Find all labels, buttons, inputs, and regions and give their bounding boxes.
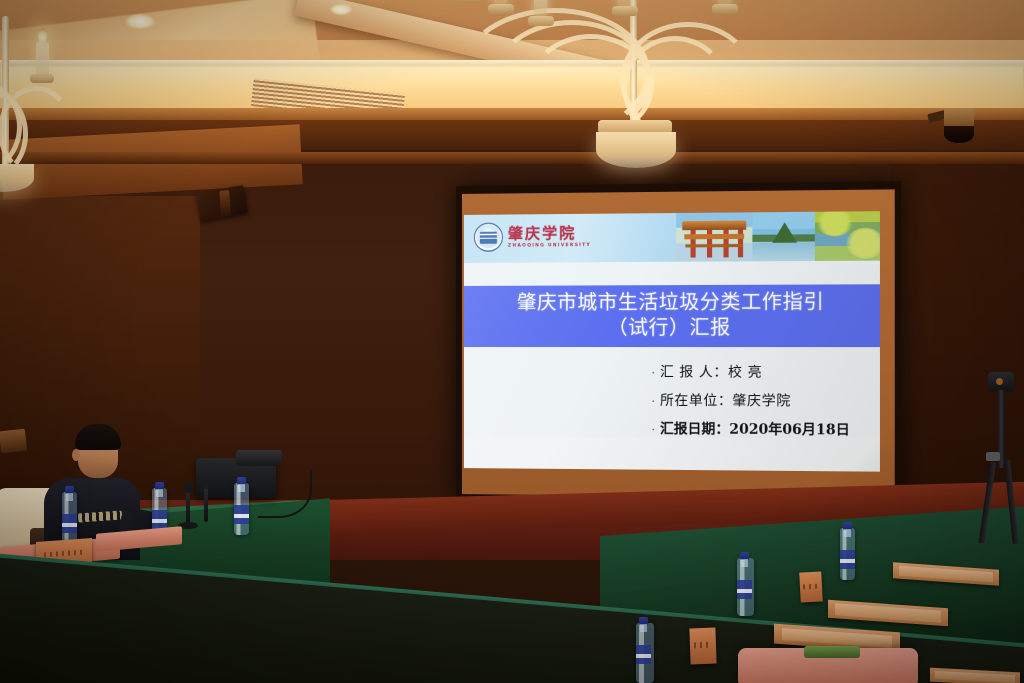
logo-chinese-name: 肇庆学院 <box>508 225 591 241</box>
downlight-icon <box>330 4 352 15</box>
slide-title-line-2: （试行）汇报 <box>464 314 880 340</box>
av-equipment-top <box>236 450 282 466</box>
slide-body: · 汇 报 人：校 亮 · 所在单位：肇庆学院 · 汇报日期：2020年06月1… <box>464 347 880 439</box>
speaker-grille <box>219 190 231 217</box>
bullet-dot-icon: · <box>652 369 655 379</box>
list-item: · 汇报日期：2020年06月18日 <box>652 417 880 439</box>
downlight-icon <box>125 14 155 29</box>
bullet-dot-icon: · <box>652 426 655 436</box>
chandelier-collar <box>454 0 480 2</box>
chandelier-candle <box>494 0 507 4</box>
university-logo: 肇庆学院 ZHAOQING UNIVERSITY <box>474 222 591 252</box>
microphone-head <box>184 482 193 493</box>
bottle-label <box>62 514 77 533</box>
projection-screen: 肇庆学院 ZHAOQING UNIVERSITY 肇庆市城市生活垃圾分类工作指引… <box>456 181 901 507</box>
water-bottle <box>636 623 654 683</box>
person-ear <box>72 449 80 461</box>
microphone-icon <box>204 486 208 522</box>
photo-karst-lake <box>752 212 814 262</box>
bottle-label <box>636 645 651 664</box>
bottle-neck <box>156 489 163 497</box>
photo-river-trees <box>815 211 880 261</box>
dome-camera-lens <box>944 126 974 143</box>
chandelier-collar <box>712 4 738 14</box>
bottle-neck <box>844 529 851 537</box>
slide-bullet-list: · 汇 报 人：校 亮 · 所在单位：肇庆学院 · 汇报日期：2020年06月1… <box>652 360 880 439</box>
name-card <box>689 628 716 665</box>
slide-title-band: 肇庆市城市生活垃圾分类工作指引 （试行）汇报 <box>464 284 880 347</box>
candle-flame-icon <box>38 28 47 44</box>
slide-header: 肇庆学院 ZHAOQING UNIVERSITY <box>464 211 880 263</box>
bottle-neck <box>640 624 647 632</box>
chandelier-collar <box>612 6 638 16</box>
green-item <box>804 646 860 658</box>
list-item: · 汇 报 人：校 亮 <box>652 360 880 381</box>
water-bottle <box>234 483 249 535</box>
tripod-knob <box>996 378 1003 385</box>
door-handle <box>0 429 27 454</box>
microphone-icon <box>186 490 190 524</box>
chandelier-candle <box>618 0 631 6</box>
presentation-slide: 肇庆学院 ZHAOQING UNIVERSITY 肇庆市城市生活垃圾分类工作指引… <box>464 211 880 472</box>
bottle-label <box>737 580 752 599</box>
chandelier-icon <box>0 16 96 186</box>
bottle-neck <box>238 484 245 492</box>
bottle-neck <box>66 493 73 501</box>
chandelier-icon <box>430 0 760 160</box>
bullet-text: 所在单位：肇庆学院 <box>660 389 791 410</box>
university-seal-icon <box>474 223 503 252</box>
bottle-label <box>152 510 167 529</box>
microphone-head <box>201 478 210 489</box>
chandelier-collar <box>528 16 554 26</box>
tripod-clamp <box>986 452 1000 461</box>
bullet-text: 汇 报 人：校 亮 <box>660 360 762 381</box>
chandelier-bowl <box>596 132 676 168</box>
chandelier-arm <box>0 86 74 176</box>
logo-english-name: ZHAOQING UNIVERSITY <box>508 243 591 249</box>
conference-room-photo: 肇庆学院 ZHAOQING UNIVERSITY 肇庆市城市生活垃圾分类工作指引… <box>0 0 1024 683</box>
bottle-neck <box>741 559 748 567</box>
name-card <box>799 571 823 602</box>
slide-spacer-top <box>464 261 880 286</box>
bullet-dot-icon: · <box>652 398 655 408</box>
water-bottle <box>62 492 77 544</box>
bullet-text: 汇报日期：2020年06月18日 <box>660 417 850 439</box>
chandelier-candle <box>534 0 547 16</box>
list-item: · 所在单位：肇庆学院 <box>652 389 880 410</box>
water-bottle <box>840 528 855 580</box>
chandelier-candle <box>718 0 731 4</box>
water-bottle <box>737 558 754 616</box>
chandelier-collar <box>488 4 514 14</box>
bottle-label <box>234 505 249 524</box>
header-photo-strip <box>676 211 880 262</box>
photo-archway <box>676 212 752 261</box>
slide-title-line-1: 肇庆市城市生活垃圾分类工作指引 <box>464 288 880 315</box>
bottle-label <box>840 550 855 569</box>
chandelier-candle <box>36 42 49 76</box>
